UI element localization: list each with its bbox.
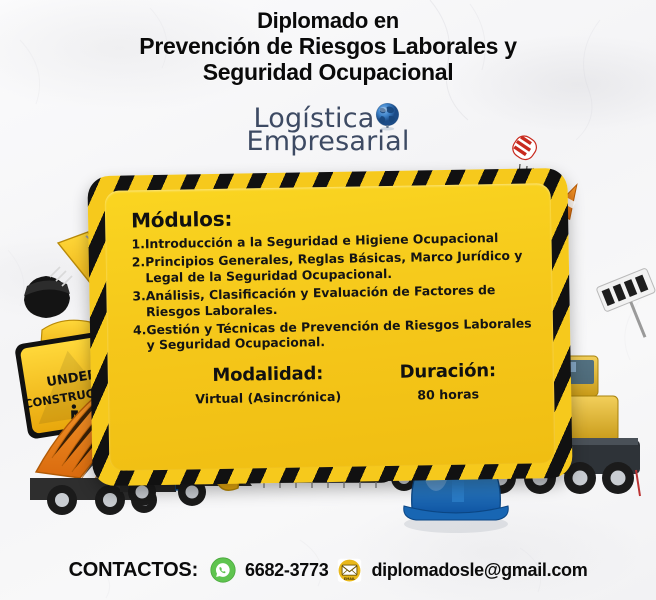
module-item: 2. Principios Generales, Reglas Básicas,…	[132, 248, 532, 286]
module-number: 3.	[132, 288, 146, 304]
page-title: Diplomado en Prevención de Riesgos Labor…	[0, 8, 656, 86]
svg-text:EMAIL: EMAIL	[344, 576, 355, 580]
module-item: 3. Análisis, Clasificación y Evaluación …	[132, 282, 532, 320]
card-body: Módulos: 1. Introducción a la Seguridad …	[105, 183, 556, 471]
modalidad-block: Modalidad: Virtual (Asincrónica)	[168, 362, 369, 406]
title-line-2: Prevención de Riesgos Laborales y	[14, 33, 642, 59]
contactos-label: CONTACTOS:	[69, 559, 198, 582]
brand-logo: Logística Empresarial	[246, 101, 409, 155]
contact-footer: CONTACTOS: 6682-3773 EMAIL diplomadosle@…	[0, 557, 656, 583]
module-text: Gestión y Técnicas de Prevención de Ries…	[146, 315, 533, 352]
hazard-card: Módulos: 1. Introducción a la Seguridad …	[87, 168, 572, 486]
phone-number[interactable]: 6682-3773	[245, 560, 328, 581]
details-row: Modalidad: Virtual (Asincrónica) Duració…	[134, 359, 535, 407]
modules-list: 1. Introducción a la Seguridad e Higiene…	[131, 229, 533, 353]
modalidad-label: Modalidad:	[168, 362, 368, 386]
title-line-3: Seguridad Ocupacional	[14, 59, 642, 85]
duracion-block: Duración: 80 horas	[368, 359, 529, 403]
barrier-sign-icon	[596, 268, 656, 348]
logo-text-line-2: Empresarial	[246, 129, 409, 155]
email-address[interactable]: diplomadosle@gmail.com	[371, 560, 587, 581]
module-number: 4.	[133, 322, 147, 338]
whatsapp-icon[interactable]	[210, 557, 236, 583]
module-number: 1.	[131, 236, 145, 252]
module-item: 4. Gestión y Técnicas de Prevención de R…	[133, 315, 533, 353]
module-number: 2.	[132, 255, 146, 271]
module-text: Análisis, Clasificación y Evaluación de …	[146, 282, 533, 319]
duracion-value: 80 horas	[368, 385, 528, 403]
module-text: Principios Generales, Reglas Básicas, Ma…	[145, 248, 532, 285]
title-line-1: Diplomado en	[14, 8, 642, 33]
duracion-label: Duración:	[368, 359, 528, 383]
header: Diplomado en Prevención de Riesgos Labor…	[0, 8, 656, 86]
modalidad-value: Virtual (Asincrónica)	[168, 388, 368, 406]
modules-heading: Módulos:	[131, 201, 531, 232]
email-envelope-icon[interactable]: EMAIL	[337, 558, 362, 583]
